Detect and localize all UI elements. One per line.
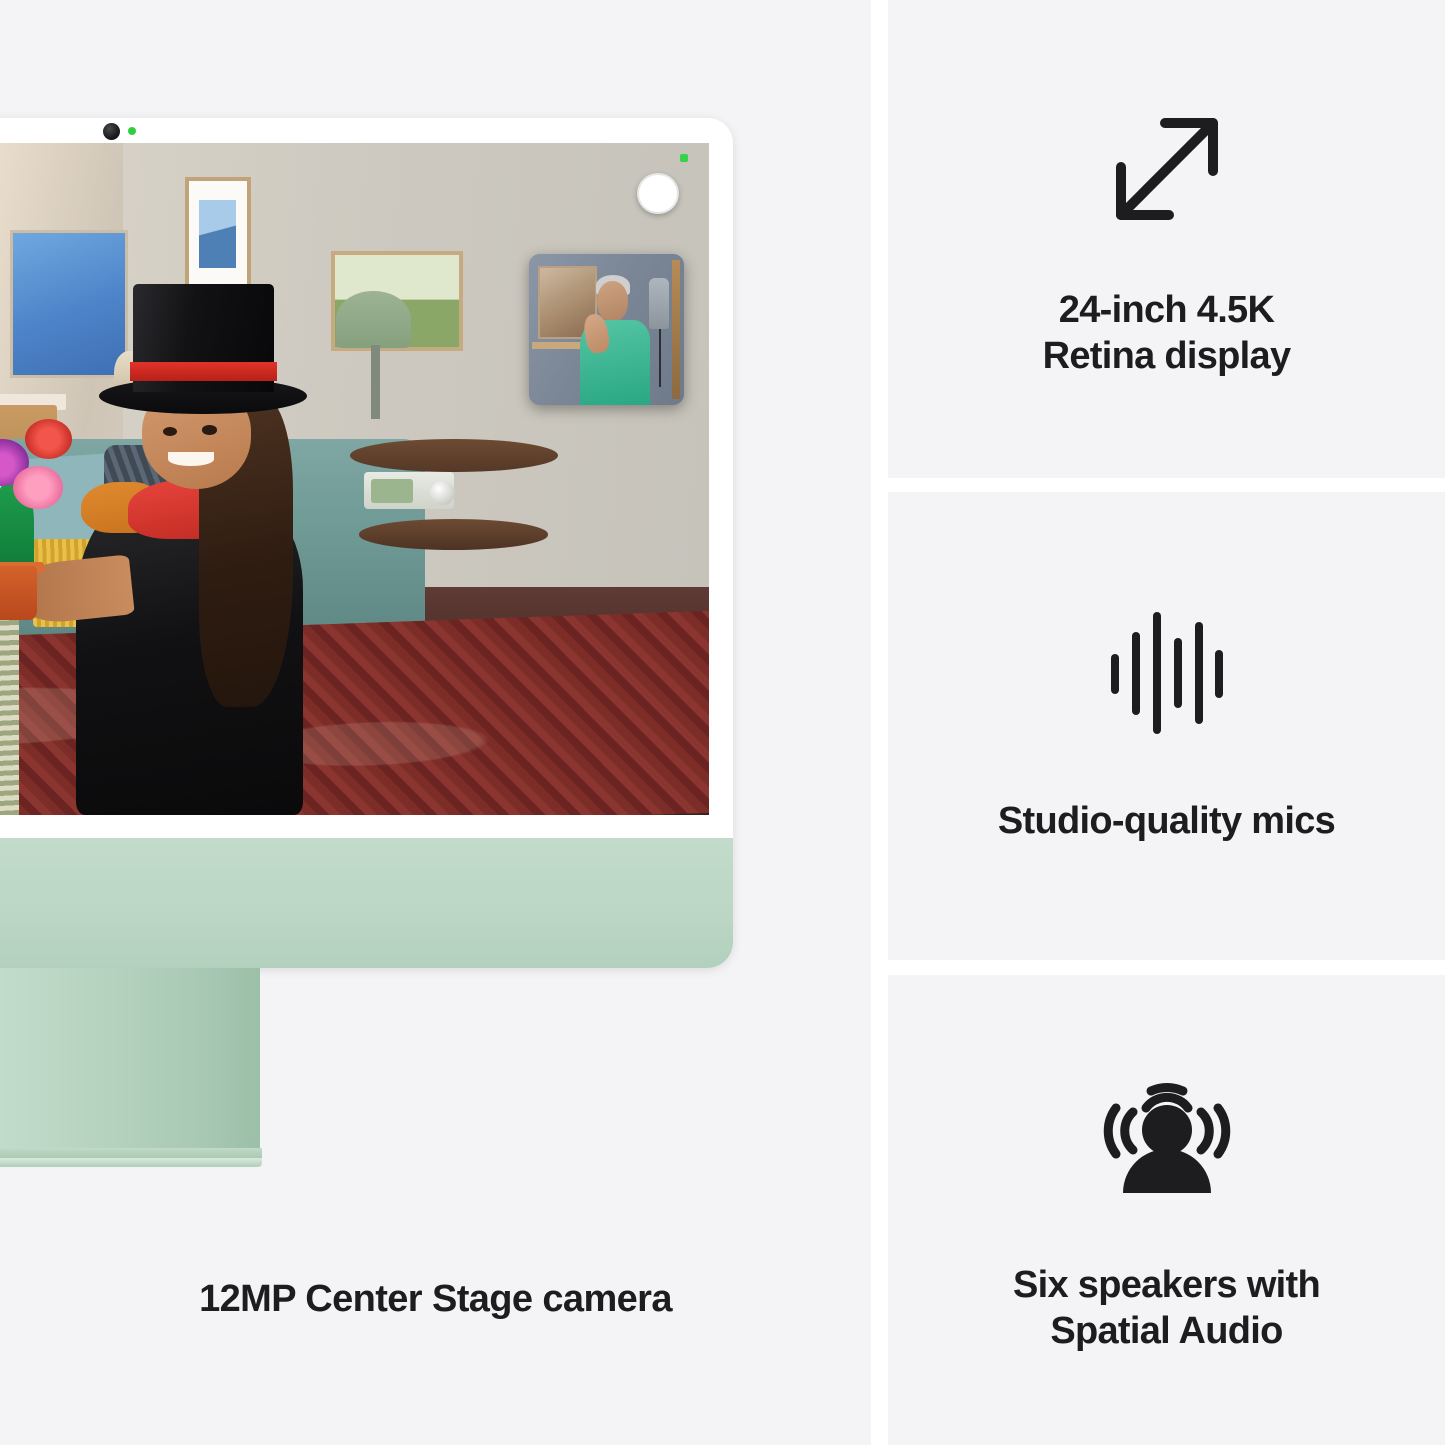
speaker-feature-label-line2: Spatial Audio bbox=[1013, 1308, 1320, 1354]
flower-red bbox=[25, 419, 72, 459]
microphone-feature-panel: Studio-quality mics bbox=[888, 492, 1445, 960]
radio-knob bbox=[430, 481, 455, 505]
pip-person-head bbox=[597, 281, 628, 322]
facetime-control-button[interactable] bbox=[637, 173, 679, 214]
microphone-feature-label: Studio-quality mics bbox=[998, 798, 1335, 844]
speaker-feature-panel: Six speakers with Spatial Audio bbox=[888, 975, 1445, 1445]
girl-eye-right bbox=[202, 425, 216, 434]
display-feature-label: 24-inch 4.5K Retina display bbox=[1043, 287, 1291, 380]
picture-in-picture-window[interactable] bbox=[529, 254, 685, 405]
audio-waveform-icon bbox=[1107, 608, 1227, 738]
pip-wood-frame bbox=[672, 260, 680, 399]
camera-feature-panel: 12MP Center Stage camera bbox=[0, 0, 871, 1445]
pip-cord bbox=[659, 329, 661, 386]
display-feature-label-line2: Retina display bbox=[1043, 333, 1291, 379]
table-lamp-shade bbox=[336, 291, 412, 348]
imac-stand-foot-edge bbox=[0, 1158, 262, 1167]
speaker-feature-label: Six speakers with Spatial Audio bbox=[1013, 1262, 1320, 1355]
microphone-feature-label-line1: Studio-quality mics bbox=[998, 798, 1335, 844]
camera-feature-label: 12MP Center Stage camera bbox=[0, 1278, 871, 1321]
expand-arrows-icon bbox=[1099, 99, 1235, 239]
framed-photo-1 bbox=[185, 177, 251, 291]
camera-icon bbox=[103, 123, 120, 140]
facetime-scene bbox=[0, 143, 709, 815]
imac-chin bbox=[0, 838, 733, 968]
girl-smile bbox=[168, 452, 213, 465]
spatial-audio-person-icon bbox=[1089, 1066, 1245, 1226]
blue-artwork bbox=[10, 230, 128, 378]
side-table-lower bbox=[359, 519, 548, 549]
display-feature-label-line1: 24-inch 4.5K bbox=[1043, 287, 1291, 333]
imac-display bbox=[0, 143, 709, 815]
top-hat-red-band bbox=[130, 362, 277, 381]
screen-recording-indicator bbox=[680, 154, 689, 162]
table-lamp-stem bbox=[371, 345, 380, 419]
pip-speaker bbox=[649, 278, 669, 329]
speaker-feature-label-line1: Six speakers with bbox=[1013, 1262, 1320, 1308]
side-table-upper bbox=[350, 439, 558, 473]
feature-panel-column: 24-inch 4.5K Retina display bbox=[888, 0, 1445, 1445]
flower-pot bbox=[0, 566, 37, 620]
feature-grid: 12MP Center Stage camera 24-inch 4.5K bbox=[0, 0, 1445, 1445]
imac-stand-neck bbox=[0, 968, 260, 1154]
flower-pink bbox=[13, 466, 62, 509]
imac-device bbox=[0, 118, 733, 968]
girl-eye-left bbox=[163, 427, 177, 436]
display-feature-panel: 24-inch 4.5K Retina display bbox=[888, 0, 1445, 478]
imac-body bbox=[0, 118, 733, 968]
camera-indicator-icon bbox=[128, 127, 136, 135]
